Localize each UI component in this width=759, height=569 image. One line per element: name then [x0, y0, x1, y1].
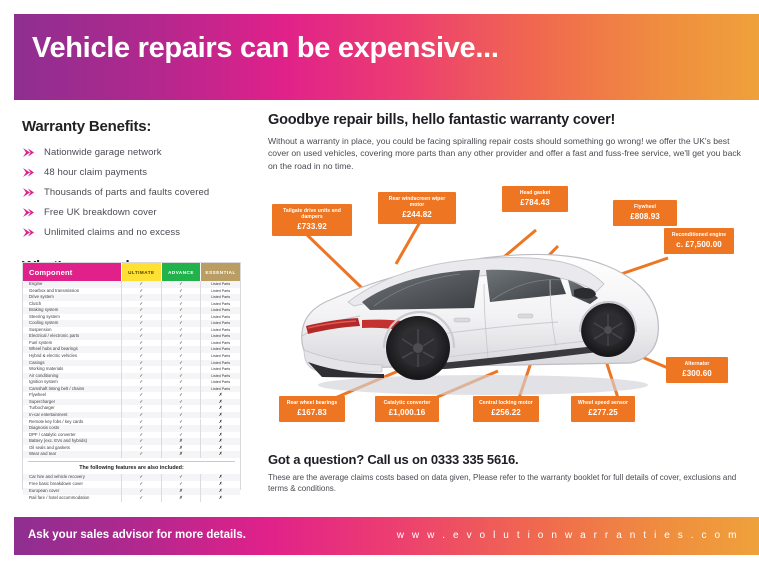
row-component-name: Oil seals and gaskets — [23, 445, 121, 452]
cell-tick: ✓ — [121, 373, 161, 380]
table-row: Flywheel✓✓✗ — [23, 392, 240, 399]
cell-tick: ✓ — [121, 281, 161, 288]
cell-tick: ✓ — [161, 333, 201, 340]
row-component-name: Electrical / electronic parts — [23, 333, 121, 340]
cell-tick: ✓ — [121, 474, 161, 481]
footer-website[interactable]: w w w . e v o l u t i o n w a r r a n t … — [397, 530, 739, 541]
cell-listed-parts: Listed Parts — [200, 301, 240, 308]
row-component-name: Diagnosis costs — [23, 425, 121, 432]
cell-tick: ✓ — [161, 301, 201, 308]
cell-tick: ✓ — [121, 392, 161, 399]
cell-tick: ✓ — [121, 438, 161, 445]
row-component-name: Remote key fobs / key cards — [23, 419, 121, 426]
cell-cross: ✗ — [200, 481, 240, 488]
benefit-label: Thousands of parts and faults covered — [44, 187, 209, 198]
table-row: Ignition system✓✓Listed Parts — [23, 379, 240, 386]
table-header-row: Component ULTIMATE ADVANCE ESSENTIAL — [23, 263, 240, 281]
row-component-name: Camshaft timing belt / chains — [23, 386, 121, 393]
callout-wheel-speed-sensor[interactable]: Wheel speed sensor £277.25 — [571, 396, 635, 422]
table-row: Working materials✓✓Listed Parts — [23, 366, 240, 373]
table-row: Suspension✓✓Listed Parts — [23, 327, 240, 334]
cell-cross: ✗ — [200, 445, 240, 452]
cell-cross: ✗ — [200, 425, 240, 432]
cell-tick: ✓ — [121, 386, 161, 393]
row-component-name: European cover — [23, 488, 121, 495]
cell-tick: ✓ — [121, 327, 161, 334]
cell-listed-parts: Listed Parts — [200, 314, 240, 321]
table-row: Wear and tear✓✗✗ — [23, 451, 240, 458]
cell-tick: ✓ — [161, 281, 201, 288]
cell-tick: ✓ — [161, 353, 201, 360]
cell-tick: ✓ — [161, 327, 201, 334]
right-paragraph: Without a warranty in place, you could b… — [268, 135, 743, 172]
cell-tick: ✓ — [161, 360, 201, 367]
question-block: Got a question? Call us on 0333 335 5616… — [268, 452, 738, 494]
cell-tick: ✓ — [121, 405, 161, 412]
table-row: Free basic breakdown cover✓✓✗ — [23, 481, 240, 488]
table-row: Drive system✓✓Listed Parts — [23, 294, 240, 301]
cell-tick: ✓ — [161, 346, 201, 353]
cell-tick: ✓ — [161, 386, 201, 393]
cell-tick: ✓ — [121, 495, 161, 502]
callout-price: £167.83 — [284, 408, 340, 417]
callout-price: £256.22 — [478, 408, 534, 417]
row-component-name: Engine — [23, 281, 121, 288]
cell-tick: ✓ — [161, 399, 201, 406]
cell-tick: ✓ — [121, 379, 161, 386]
extras-heading: The following features are also included… — [23, 462, 240, 474]
cell-tick: ✓ — [121, 432, 161, 439]
right-column: Goodbye repair bills, hello fantastic wa… — [268, 112, 743, 172]
table-row: Braking system✓✓Listed Parts — [23, 307, 240, 314]
cell-tick: ✓ — [161, 392, 201, 399]
table-row: Diagnosis costs✓✓✗ — [23, 425, 240, 432]
callout-label: Central locking motor — [478, 400, 534, 406]
callout-reconditioned-engine[interactable]: Reconditioned engine c. £7,500.00 — [664, 228, 734, 254]
table-row: Clutch✓✓Listed Parts — [23, 301, 240, 308]
cell-cross: ✗ — [200, 392, 240, 399]
row-component-name: Battery (exc. EVs and hybrids) — [23, 438, 121, 445]
benefit-label: Unlimited claims and no excess — [44, 227, 180, 238]
cell-cross: ✗ — [200, 405, 240, 412]
cell-listed-parts: Listed Parts — [200, 360, 240, 367]
car-diagram: Tailgate drive units and dampers £733.92… — [268, 186, 759, 446]
row-component-name: Drive system — [23, 294, 121, 301]
cell-tick: ✓ — [121, 288, 161, 295]
table-row: DPF / catalytic converter✓✓✗ — [23, 432, 240, 439]
benefit-item: Thousands of parts and faults covered — [22, 184, 257, 201]
row-component-name: Supercharger — [23, 399, 121, 406]
table-row: Rail fare / hotel accommodation✓✗✗ — [23, 495, 240, 502]
callout-label: Rear windscreen wiper motor — [383, 196, 451, 209]
cell-listed-parts: Listed Parts — [200, 327, 240, 334]
table-row: European cover✓✗✗ — [23, 488, 240, 495]
cell-cross: ✗ — [200, 474, 240, 481]
table-row: Gearbox and transmission✓✓Listed Parts — [23, 288, 240, 295]
cell-tick: ✓ — [161, 481, 201, 488]
row-component-name: Hybrid & electric vehicles — [23, 353, 121, 360]
row-component-name: Rail fare / hotel accommodation — [23, 495, 121, 502]
chevron-right-icon — [22, 167, 36, 178]
page-title: Vehicle repairs can be expensive... — [32, 32, 499, 65]
car-illustration — [278, 222, 678, 402]
cell-tick: ✓ — [121, 399, 161, 406]
benefit-item: 48 hour claim payments — [22, 164, 257, 181]
poster-page: Vehicle repairs can be expensive... Warr… — [0, 0, 759, 569]
callout-tailgate[interactable]: Tailgate drive units and dampers £733.92 — [272, 204, 352, 236]
callout-rear-wheel-bearings[interactable]: Rear wheel bearings £167.83 — [279, 396, 345, 422]
cell-tick: ✓ — [161, 432, 201, 439]
column-header-advance: ADVANCE — [161, 263, 201, 281]
cell-tick: ✓ — [161, 412, 201, 419]
callout-price: c. £7,500.00 — [669, 240, 729, 249]
row-component-name: Braking system — [23, 307, 121, 314]
cell-listed-parts: Listed Parts — [200, 333, 240, 340]
cell-tick: ✓ — [121, 360, 161, 367]
benefits-heading: Warranty Benefits: — [22, 118, 257, 135]
row-component-name: Suspension — [23, 327, 121, 334]
benefit-label: 48 hour claim payments — [44, 167, 147, 178]
table-row: Fuel system✓✓Listed Parts — [23, 340, 240, 347]
cell-tick: ✓ — [121, 451, 161, 458]
callout-label: Flywheel — [618, 204, 672, 210]
cell-tick: ✓ — [121, 481, 161, 488]
table-row: Hybrid & electric vehicles✓✓Listed Parts — [23, 353, 240, 360]
cell-tick: ✓ — [161, 294, 201, 301]
callout-price: £808.93 — [618, 212, 672, 221]
table-row: Camshaft timing belt / chains✓✓Listed Pa… — [23, 386, 240, 393]
cell-tick: ✓ — [161, 379, 201, 386]
row-component-name: Working materials — [23, 366, 121, 373]
table-row: Oil seals and gaskets✓✗✗ — [23, 445, 240, 452]
callout-head-gasket[interactable]: Head gasket £784.43 — [502, 186, 568, 212]
callout-price: £300.60 — [671, 369, 723, 378]
row-component-name: Wear and tear — [23, 451, 121, 458]
cell-tick: ✓ — [161, 425, 201, 432]
cell-listed-parts: Listed Parts — [200, 379, 240, 386]
callout-price: £244.82 — [383, 210, 451, 219]
cell-cross: ✗ — [200, 488, 240, 495]
callout-price: £784.43 — [507, 198, 563, 207]
cell-tick: ✓ — [121, 314, 161, 321]
cell-tick: ✓ — [161, 366, 201, 373]
cell-cross: ✗ — [161, 451, 201, 458]
row-component-name: In-car entertainment — [23, 412, 121, 419]
callout-label: Catalytic converter — [380, 400, 434, 406]
benefit-item: Nationwide garage network — [22, 144, 257, 161]
table-row: Casings✓✓Listed Parts — [23, 360, 240, 367]
cell-tick: ✓ — [121, 412, 161, 419]
cell-tick: ✓ — [121, 353, 161, 360]
benefit-item: Unlimited claims and no excess — [22, 224, 257, 241]
row-component-name: Free basic breakdown cover — [23, 481, 121, 488]
cell-tick: ✓ — [121, 307, 161, 314]
cell-listed-parts: Listed Parts — [200, 353, 240, 360]
row-component-name: Flywheel — [23, 392, 121, 399]
cell-tick: ✓ — [121, 294, 161, 301]
cell-cross: ✗ — [161, 445, 201, 452]
callout-central-locking-motor[interactable]: Central locking motor £256.22 — [473, 396, 539, 422]
cell-cross: ✗ — [200, 438, 240, 445]
right-heading: Goodbye repair bills, hello fantastic wa… — [268, 112, 743, 128]
cell-listed-parts: Listed Parts — [200, 320, 240, 327]
callout-label: Head gasket — [507, 190, 563, 196]
cell-tick: ✓ — [161, 405, 201, 412]
callout-price: £733.92 — [277, 222, 347, 231]
cell-tick: ✓ — [161, 474, 201, 481]
cell-tick: ✓ — [161, 320, 201, 327]
cell-listed-parts: Listed Parts — [200, 366, 240, 373]
callout-price: £277.25 — [576, 408, 630, 417]
table-row: Wheel hubs and bearings✓✓Listed Parts — [23, 346, 240, 353]
cell-tick: ✓ — [161, 373, 201, 380]
row-component-name: Turbocharger — [23, 405, 121, 412]
row-component-name: Cooling system — [23, 320, 121, 327]
row-component-name: Steering system — [23, 314, 121, 321]
hero-banner: Vehicle repairs can be expensive... — [14, 14, 759, 100]
cell-tick: ✓ — [121, 445, 161, 452]
table-row: Turbocharger✓✓✗ — [23, 405, 240, 412]
table-row: Supercharger✓✓✗ — [23, 399, 240, 406]
table-row: Remote key fobs / key cards✓✓✗ — [23, 418, 240, 425]
cell-tick: ✓ — [161, 419, 201, 426]
column-header-ultimate: ULTIMATE — [121, 263, 161, 281]
cell-tick: ✓ — [161, 314, 201, 321]
callout-label: Reconditioned engine — [669, 232, 729, 238]
chevron-right-icon — [22, 187, 36, 198]
callout-label: Tailgate drive units and dampers — [277, 208, 347, 221]
footer-cta: Ask your sales advisor for more details. — [28, 529, 246, 541]
left-column: Warranty Benefits: Nationwide garage net… — [22, 118, 257, 275]
row-component-name: Clutch — [23, 301, 121, 308]
table-row: Air conditioning✓✓Listed Parts — [23, 373, 240, 380]
table-row: Car hire and vehicle recovery✓✓✗ — [23, 474, 240, 481]
callout-price: £1,000.16 — [380, 408, 434, 417]
callout-catalytic-converter[interactable]: Catalytic converter £1,000.16 — [375, 396, 439, 422]
cell-tick: ✓ — [161, 307, 201, 314]
cell-cross: ✗ — [161, 438, 201, 445]
chevron-right-icon — [22, 147, 36, 158]
row-component-name: Air conditioning — [23, 373, 121, 380]
coverage-table: Component ULTIMATE ADVANCE ESSENTIAL Eng… — [22, 262, 241, 490]
callout-label: Wheel speed sensor — [576, 400, 630, 406]
cell-cross: ✗ — [200, 412, 240, 419]
table-row: Engine✓✓Listed Parts — [23, 281, 240, 288]
benefit-label: Free UK breakdown cover — [44, 207, 157, 218]
table-row: Battery (exc. EVs and hybrids)✓✗✗ — [23, 438, 240, 445]
cell-tick: ✓ — [121, 333, 161, 340]
table-row: Cooling system✓✓Listed Parts — [23, 320, 240, 327]
cell-listed-parts: Listed Parts — [200, 307, 240, 314]
cell-tick: ✓ — [121, 301, 161, 308]
cell-listed-parts: Listed Parts — [200, 346, 240, 353]
extras-body: Car hire and vehicle recovery✓✓✗Free bas… — [23, 474, 240, 502]
table-row: Electrical / electronic parts✓✓Listed Pa… — [23, 333, 240, 340]
cell-listed-parts: Listed Parts — [200, 281, 240, 288]
cell-cross: ✗ — [200, 451, 240, 458]
cell-tick: ✓ — [161, 288, 201, 295]
callout-label: Alternator — [671, 361, 723, 367]
callout-alternator[interactable]: Alternator £300.60 — [666, 357, 728, 383]
callout-label: Rear wheel bearings — [284, 400, 340, 406]
cell-cross: ✗ — [161, 495, 201, 502]
cell-cross: ✗ — [200, 399, 240, 406]
question-heading: Got a question? Call us on 0333 335 5616… — [268, 452, 738, 467]
table-row: In-car entertainment✓✓✗ — [23, 412, 240, 419]
chevron-right-icon — [22, 227, 36, 238]
cell-cross: ✗ — [161, 488, 201, 495]
table-row: Steering system✓✓Listed Parts — [23, 314, 240, 321]
cell-cross: ✗ — [200, 495, 240, 502]
cell-tick: ✓ — [121, 488, 161, 495]
benefit-label: Nationwide garage network — [44, 147, 162, 158]
row-component-name: Car hire and vehicle recovery — [23, 474, 121, 481]
cell-listed-parts: Listed Parts — [200, 294, 240, 301]
cell-tick: ✓ — [121, 419, 161, 426]
benefit-item: Free UK breakdown cover — [22, 204, 257, 221]
row-component-name: Wheel hubs and bearings — [23, 346, 121, 353]
cell-listed-parts: Listed Parts — [200, 288, 240, 295]
chevron-right-icon — [22, 207, 36, 218]
cell-tick: ✓ — [121, 366, 161, 373]
column-header-component: Component — [23, 263, 121, 281]
cell-listed-parts: Listed Parts — [200, 340, 240, 347]
cell-cross: ✗ — [200, 432, 240, 439]
cell-listed-parts: Listed Parts — [200, 373, 240, 380]
cell-cross: ✗ — [200, 419, 240, 426]
cell-tick: ✓ — [121, 320, 161, 327]
row-component-name: DPF / catalytic converter — [23, 432, 121, 439]
row-component-name: Ignition system — [23, 379, 121, 386]
cell-tick: ✓ — [121, 346, 161, 353]
row-component-name: Casings — [23, 360, 121, 367]
row-component-name: Gearbox and transmission — [23, 288, 121, 295]
table-body: Engine✓✓Listed PartsGearbox and transmis… — [23, 281, 240, 458]
benefits-list: Nationwide garage network48 hour claim p… — [22, 144, 257, 241]
cell-tick: ✓ — [121, 340, 161, 347]
question-disclaimer: These are the average claims costs based… — [268, 472, 738, 494]
row-component-name: Fuel system — [23, 340, 121, 347]
cell-listed-parts: Listed Parts — [200, 386, 240, 393]
cell-tick: ✓ — [121, 425, 161, 432]
footer-bar: Ask your sales advisor for more details.… — [14, 517, 759, 555]
callout-wiper-motor[interactable]: Rear windscreen wiper motor £244.82 — [378, 192, 456, 224]
cell-tick: ✓ — [161, 340, 201, 347]
column-header-essential: ESSENTIAL — [200, 263, 240, 281]
callout-flywheel[interactable]: Flywheel £808.93 — [613, 200, 677, 226]
